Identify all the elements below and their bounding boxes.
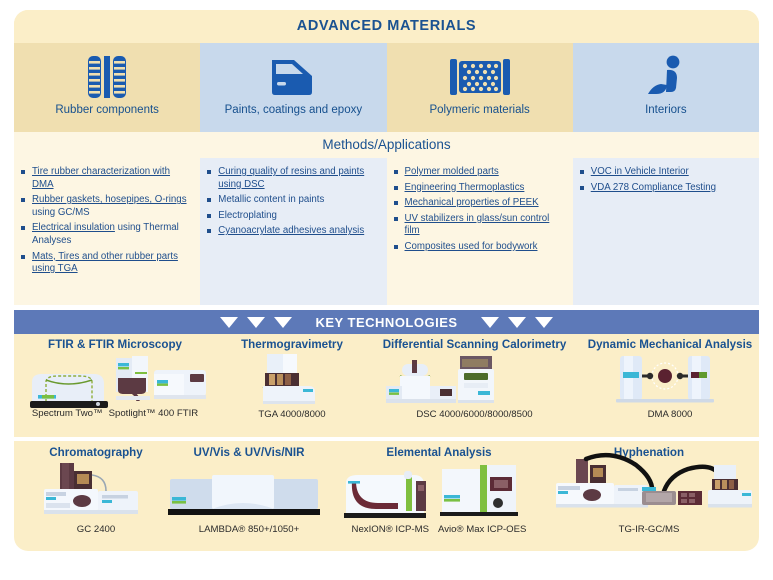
list-item[interactable]: Curing quality of resins and paints usin… <box>207 166 379 191</box>
tech-group-dsc: Differential Scanning Calorimetry <box>372 338 577 420</box>
method-link[interactable]: Mechanical properties of PEEK <box>405 197 539 208</box>
method-link[interactable]: VDA 278 Compliance Testing <box>591 182 716 193</box>
category-row: Rubber components Paints, coatings and e… <box>14 43 759 132</box>
tech-heading: Dynamic Mechanical Analysis <box>584 338 756 351</box>
category-label: Paints, coatings and epoxy <box>225 104 362 116</box>
method-link[interactable]: Tire rubber characterization with DMA <box>32 166 170 190</box>
tire-icon <box>85 51 129 103</box>
tech-caption: Avio® Max ICP-OES <box>438 524 526 535</box>
gc-captions: GC 2400 <box>20 524 172 535</box>
tga-captions: TGA 4000/8000 <box>219 409 365 420</box>
category-polymeric-materials[interactable]: Polymeric materials <box>387 43 573 132</box>
tech-heading: FTIR & FTIR Microscopy <box>20 338 210 351</box>
tech-caption: DMA 8000 <box>648 409 693 420</box>
triangle-down-icon <box>220 317 238 328</box>
tech-heading: Differential Scanning Calorimetry <box>372 338 577 351</box>
list-item[interactable]: Electrical insulation using Thermal Anal… <box>21 222 193 247</box>
category-paints-coatings-epoxy[interactable]: Paints, coatings and epoxy <box>200 43 386 132</box>
triangle-down-icon <box>247 317 265 328</box>
dma-captions: DMA 8000 <box>584 409 756 420</box>
car-door-icon <box>268 51 318 103</box>
method-text: using GC/MS <box>32 207 90 218</box>
methods-list: VOC in Vehicle Interior VDA 278 Complian… <box>580 166 752 194</box>
method-link[interactable]: Cyanoacrylate adhesives analysis <box>218 225 364 236</box>
list-item[interactable]: VDA 278 Compliance Testing <box>580 182 752 195</box>
list-item[interactable]: Tire rubber characterization with DMA <box>21 166 193 191</box>
methods-row: Tire rubber characterization with DMA Ru… <box>14 158 759 305</box>
tech-caption: TG-IR-GC/MS <box>619 524 680 535</box>
dsc-instruments-art <box>372 354 577 408</box>
hyphenation-instruments-art <box>542 461 756 523</box>
tech-group-ftir: FTIR & FTIR Microscopy <box>20 338 210 419</box>
list-item: Metallic content in paints <box>207 194 379 207</box>
tech-caption: TGA 4000/8000 <box>258 409 325 420</box>
tech-caption: GC 2400 <box>77 524 115 535</box>
tech-group-uvvis: UV/Vis & UV/Vis/NIR LAMBDA® 850+/1050+ <box>162 446 336 535</box>
list-item[interactable]: Composites used for bodywork <box>394 241 566 254</box>
tech-caption: Spotlight™ 400 FTIR <box>109 408 199 419</box>
tech-group-hyphenation: Hyphenation <box>542 446 756 535</box>
triangle-down-icon <box>274 317 292 328</box>
list-item[interactable]: Mechanical properties of PEEK <box>394 197 566 210</box>
key-technologies-title: KEY TECHNOLOGIES <box>315 315 457 330</box>
method-link[interactable]: Engineering Thermoplastics <box>405 182 525 193</box>
method-link[interactable]: Curing quality of resins and paints usin… <box>218 166 364 190</box>
page-title: ADVANCED MATERIALS <box>14 10 759 43</box>
infographic-page: ADVANCED MATERIALS <box>0 0 773 580</box>
list-item[interactable]: Rubber gaskets, hosepipes, O-rings using… <box>21 194 193 219</box>
list-item[interactable]: VOC in Vehicle Interior <box>580 166 752 179</box>
tech-group-elemental-analysis: Elemental Analysis <box>336 446 542 535</box>
method-link[interactable]: Polymer molded parts <box>405 166 499 177</box>
methods-list: Tire rubber characterization with DMA Ru… <box>21 166 193 276</box>
key-technologies-banner: KEY TECHNOLOGIES <box>14 310 759 334</box>
method-link[interactable]: Electrical insulation <box>32 222 115 233</box>
list-item[interactable]: Polymer molded parts <box>394 166 566 179</box>
car-seat-icon <box>642 51 690 103</box>
category-label: Interiors <box>645 104 687 116</box>
hyphenation-captions: TG-IR-GC/MS <box>542 524 756 535</box>
triangle-down-icon <box>535 317 553 328</box>
method-link[interactable]: Mats, Tires and other rubber parts using… <box>32 251 178 275</box>
methods-col-paints: Curing quality of resins and paints usin… <box>200 158 386 305</box>
tech-heading: Elemental Analysis <box>336 446 542 459</box>
tech-group-chromatography: Chromatography <box>20 446 172 535</box>
methods-col-interiors: VOC in Vehicle Interior VDA 278 Complian… <box>573 158 759 305</box>
tech-caption: DSC 4000/6000/8000/8500 <box>416 409 532 420</box>
tech-heading: Thermogravimetry <box>219 338 365 351</box>
methods-list: Curing quality of resins and paints usin… <box>207 166 379 238</box>
key-technologies-row-2: Chromatography <box>14 441 759 551</box>
tech-group-dma: Dynamic Mechanical Analysis <box>584 338 756 420</box>
methods-heading: Methods/Applications <box>14 132 759 158</box>
advanced-materials-card: ADVANCED MATERIALS <box>14 10 759 305</box>
category-rubber-components[interactable]: Rubber components <box>14 43 200 132</box>
triangle-down-icon <box>481 317 499 328</box>
lambda-instrument-art <box>162 463 336 523</box>
tech-caption: NexION® ICP-MS <box>352 524 429 535</box>
key-technologies-row-1: FTIR & FTIR Microscopy <box>14 334 759 437</box>
methods-col-rubber: Tire rubber characterization with DMA Ru… <box>14 158 200 305</box>
category-interiors[interactable]: Interiors <box>573 43 759 132</box>
tga-instrument-art <box>219 354 365 408</box>
tech-group-thermogravimetry: Thermogravimetry <box>219 338 365 420</box>
tech-heading: UV/Vis & UV/Vis/NIR <box>162 446 336 459</box>
method-link[interactable]: Rubber gaskets, hosepipes, O-rings <box>32 194 187 205</box>
triangle-down-icon <box>508 317 526 328</box>
list-item[interactable]: Cyanoacrylate adhesives analysis <box>207 225 379 238</box>
method-text: Electroplating <box>218 210 277 221</box>
method-link[interactable]: Composites used for bodywork <box>405 241 538 252</box>
tech-heading: Chromatography <box>20 446 172 459</box>
category-label: Polymeric materials <box>429 104 529 116</box>
dsc-captions: DSC 4000/6000/8000/8500 <box>372 409 577 420</box>
polymer-mesh-icon <box>449 51 511 103</box>
method-link[interactable]: VOC in Vehicle Interior <box>591 166 689 177</box>
list-item: Electroplating <box>207 210 379 223</box>
elemental-captions: NexION® ICP-MS Avio® Max ICP-OES <box>336 524 542 535</box>
elemental-instruments-art <box>336 463 542 523</box>
ftir-instruments-art <box>20 354 210 406</box>
methods-col-polymeric: Polymer molded parts Engineering Thermop… <box>387 158 573 305</box>
method-link[interactable]: UV stabilizers in glass/sun control film <box>405 213 550 237</box>
list-item[interactable]: Engineering Thermoplastics <box>394 182 566 195</box>
method-text: Metallic content in paints <box>218 194 324 205</box>
list-item[interactable]: Mats, Tires and other rubber parts using… <box>21 251 193 276</box>
category-label: Rubber components <box>55 104 159 116</box>
dma-instrument-art <box>584 354 756 408</box>
methods-list: Polymer molded parts Engineering Thermop… <box>394 166 566 254</box>
gc-instrument-art <box>20 463 172 523</box>
list-item[interactable]: UV stabilizers in glass/sun control film <box>394 213 566 238</box>
